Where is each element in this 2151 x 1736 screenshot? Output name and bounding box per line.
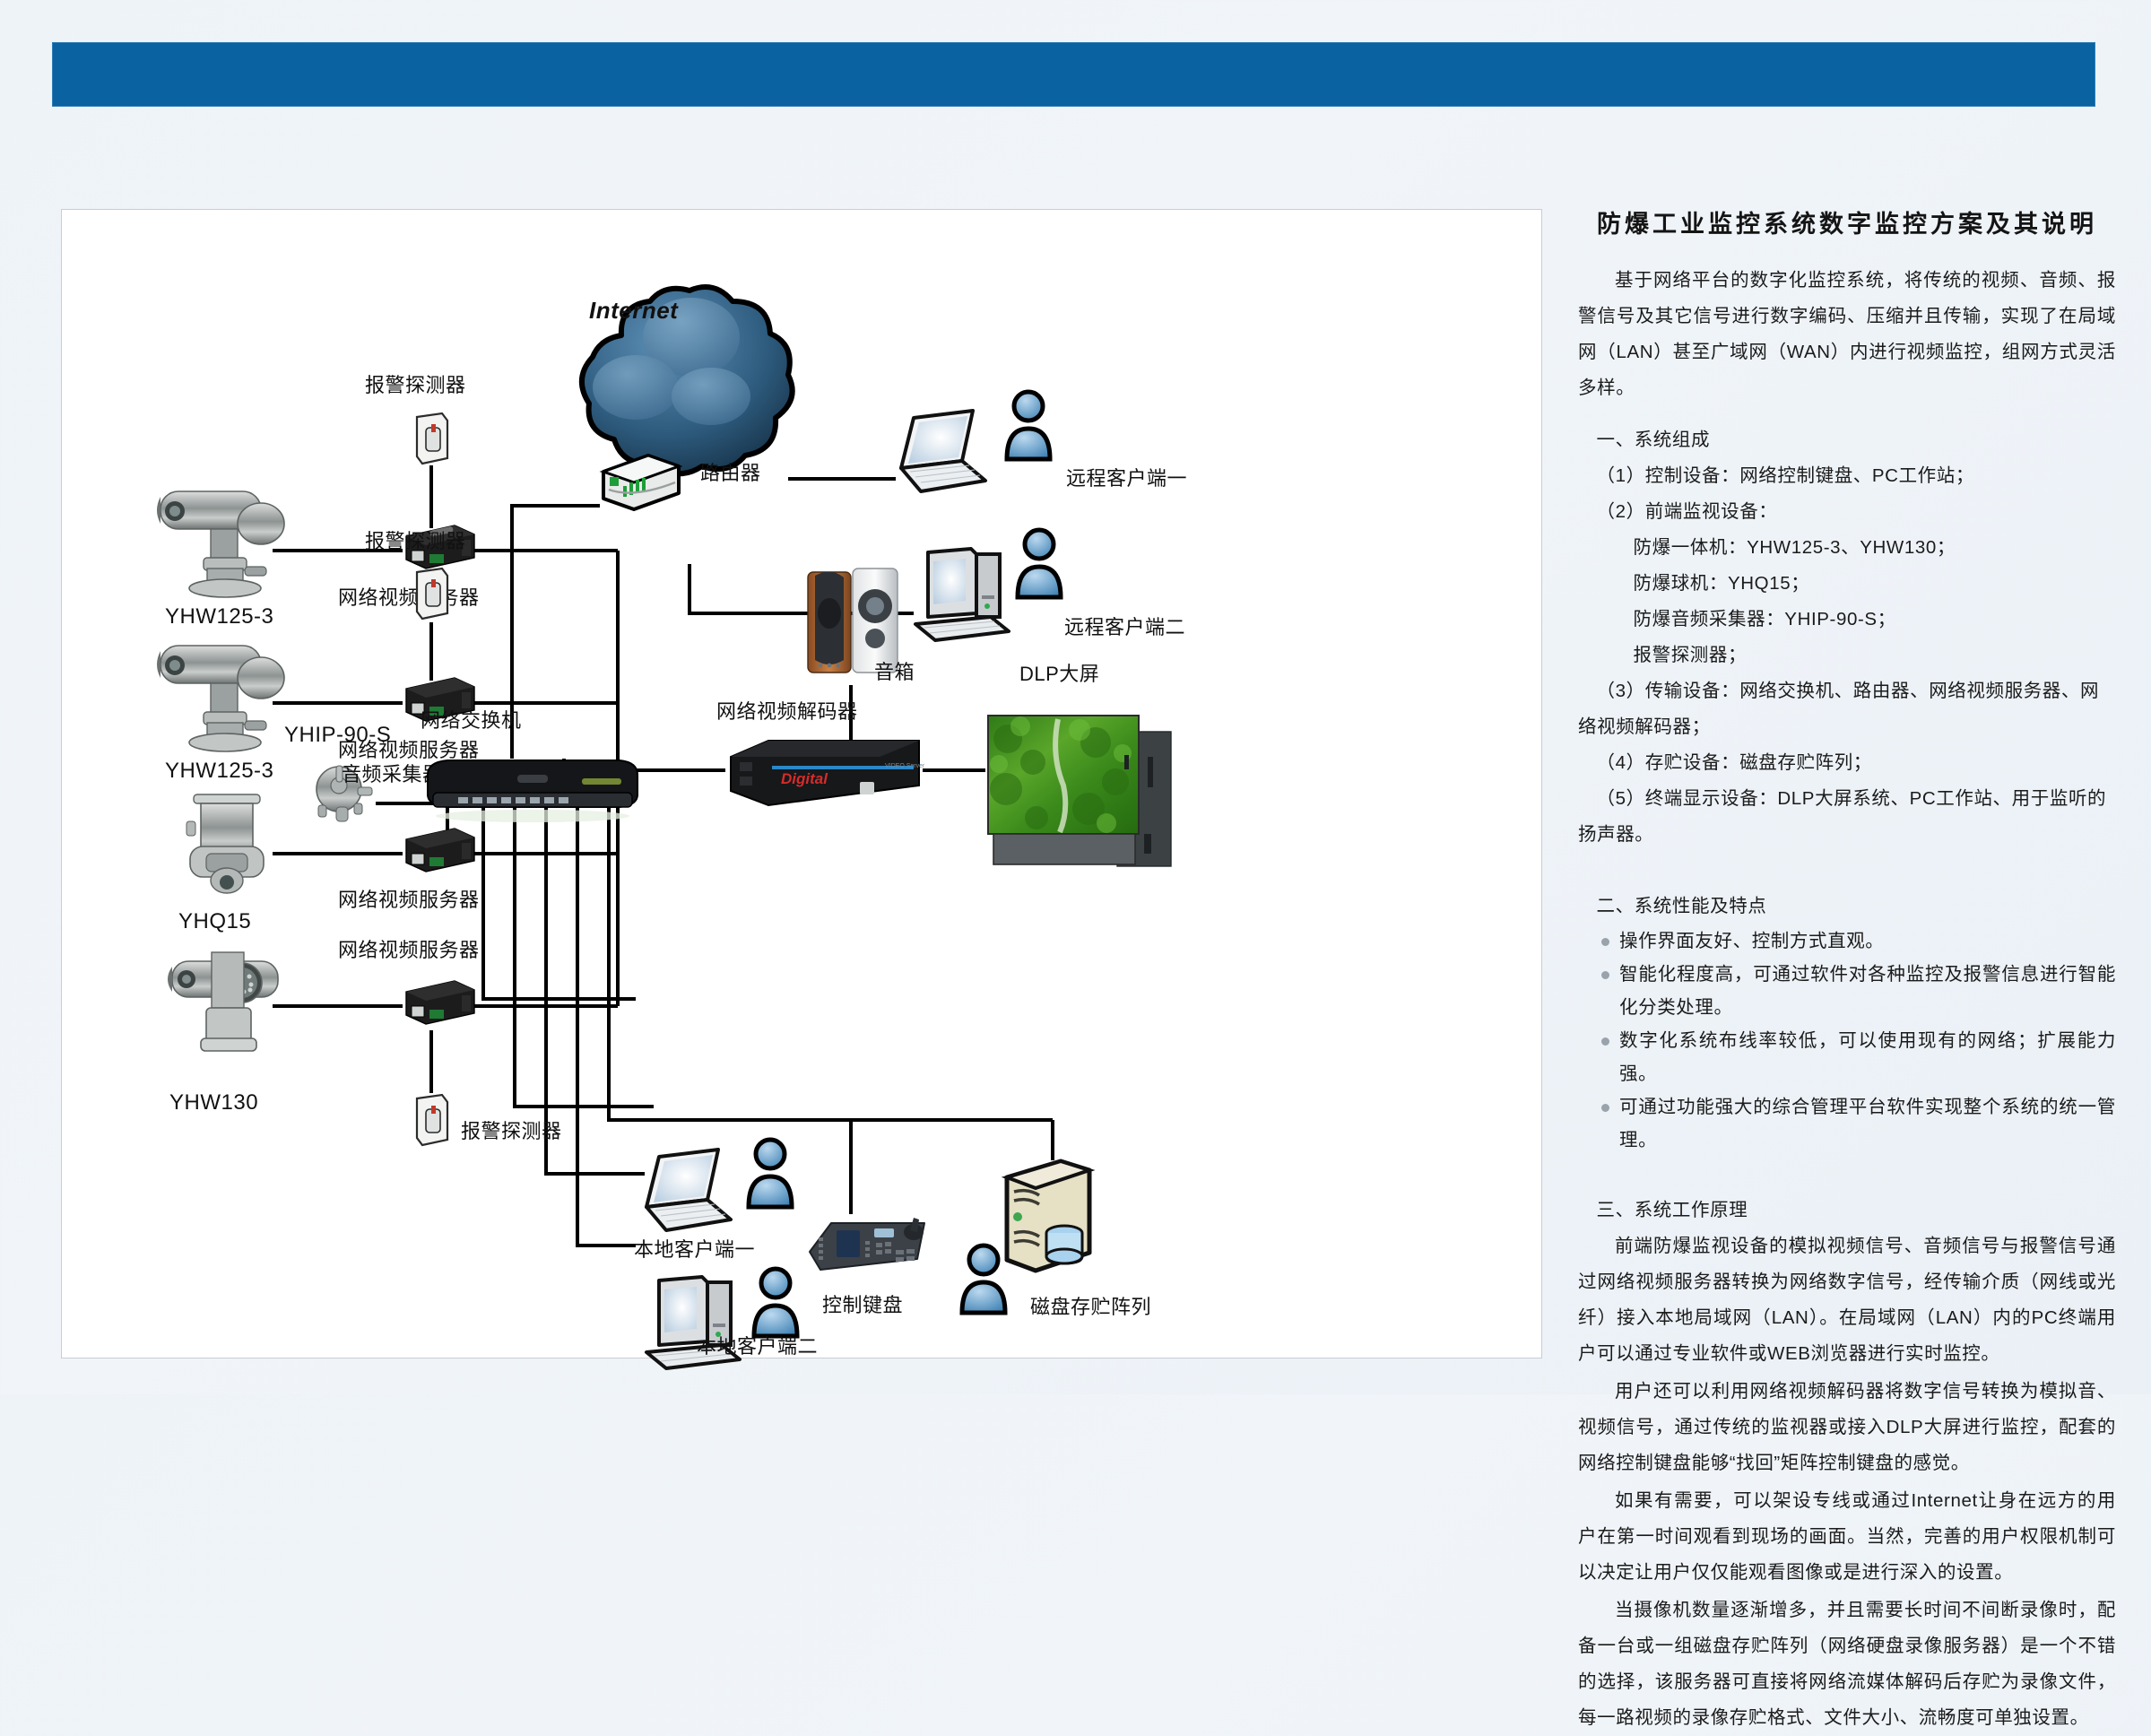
user-avatar-icon-3 (745, 1135, 795, 1215)
section-3-paragraph-2: 用户还可以利用网络视频解码器将数字信号转换为模拟音、视频信号，通过传统的监视器或… (1578, 1374, 2116, 1481)
network-video-server-icon-3 (403, 825, 478, 880)
section-1-item-2: （2）前端监视设备： (1578, 494, 2116, 530)
label-router: 路由器 (700, 457, 761, 486)
explosion-proof-dome-camera-icon (174, 784, 280, 905)
label-alarm-detector-1: 报警探测器 (365, 369, 466, 398)
section-2-bullet-2: 智能化程度高，可通过软件对各种监控及报警信息进行智能化分类处理。 (1578, 958, 2116, 1024)
svg-text:VIDEO Server: VIDEO Server (885, 763, 924, 769)
section-3-paragraph-3: 如果有需要，可以架设专线或通过Internet让身在远方的用户在第一时间观看到现… (1578, 1483, 2116, 1591)
label-decoder: 网络视频解码器 (716, 696, 858, 725)
top-banner-bar (52, 42, 2095, 107)
label-camera-4: YHW130 (169, 1090, 258, 1115)
intro-paragraph: 基于网络平台的数字化监控系统，将传统的视频、音频、报警信号及其它信号进行数字编码… (1578, 263, 2116, 406)
label-camera-2: YHW125-3 (165, 759, 273, 784)
section-1-subitem-4: 报警探测器； (1578, 638, 2116, 673)
section-3-heading: 三、系统工作原理 (1578, 1193, 2116, 1228)
alarm-detector-icon-2 (412, 567, 451, 627)
control-keyboard-icon (806, 1214, 932, 1287)
bullet-dot-icon-3 (1601, 1037, 1609, 1046)
remote-client-desktop-icon (905, 547, 1018, 659)
label-internet: Internet (589, 297, 678, 325)
bullet-dot-icon-1 (1601, 938, 1609, 946)
explosion-proof-camera-icon-3 (156, 945, 299, 1075)
label-control-keyboard: 控制键盘 (822, 1289, 903, 1318)
label-remote-client-1: 远程客户端一 (1066, 463, 1187, 491)
description-panel: 防爆工业监控系统数字监控方案及其说明 基于网络平台的数字化监控系统，将传统的视频… (1578, 204, 2116, 1370)
label-camera-1: YHW125-3 (165, 604, 273, 629)
section-spacer-2 (1578, 1157, 2116, 1176)
section-1-heading: 一、系统组成 (1578, 422, 2116, 458)
user-avatar-icon-2 (1014, 525, 1064, 605)
section-3-paragraph-1: 前端防爆监视设备的模拟视频信号、音频信号与报警信号通过网络视频服务器转换为网络数… (1578, 1228, 2116, 1372)
section-2-bullet-3-text: 数字化系统布线率较低，可以使用现有的网络；扩展能力强。 (1619, 1030, 2116, 1084)
disk-storage-array-icon (994, 1156, 1102, 1286)
label-dlp-screen: DLP大屏 (1019, 658, 1099, 687)
router-icon (598, 450, 684, 519)
remote-client-laptop-icon (887, 409, 991, 507)
label-nvs-1: 网络视频服务器 (338, 582, 480, 611)
label-remote-client-2: 远程客户端二 (1064, 612, 1185, 640)
user-avatar-icon-1 (1003, 387, 1054, 467)
network-switch-icon (421, 748, 645, 828)
label-local-client-2: 本地客户端二 (697, 1331, 818, 1359)
network-topology-diagram: 报警探测器 YHW125-3 (61, 209, 1542, 1358)
label-local-client-1: 本地客户端一 (634, 1234, 755, 1263)
section-2-bullet-2-text: 智能化程度高，可通过软件对各种监控及报警信息进行智能化分类处理。 (1619, 964, 2116, 1018)
explosion-proof-camera-icon-2 (152, 633, 295, 759)
dlp-big-screen-icon (981, 699, 1189, 883)
label-storage-array: 磁盘存贮阵列 (1030, 1291, 1151, 1320)
alarm-detector-icon-1 (412, 412, 451, 472)
section-1-subitem-1: 防爆一体机：YHW125-3、YHW130； (1578, 530, 2116, 566)
label-switch: 网络交换机 (421, 705, 522, 733)
section-2-bullet-4: 可通过功能强大的综合管理平台软件实现整个系统的统一管理。 (1578, 1090, 2116, 1157)
section-1-subitem-2: 防爆球机：YHQ15； (1578, 566, 2116, 602)
section-1-item-1: （1）控制设备：网络控制键盘、PC工作站； (1578, 458, 2116, 494)
document-title: 防爆工业监控系统数字监控方案及其说明 (1578, 204, 2116, 239)
section-2-bullet-1-text: 操作界面友好、控制方式直观。 (1619, 931, 1884, 951)
label-nvs-4: 网络视频服务器 (338, 934, 480, 963)
label-audio-collector-model: YHIP-90-S (284, 723, 391, 748)
section-1-subitem-3: 防爆音频采集器：YHIP-90-S； (1578, 602, 2116, 638)
bullet-dot-icon-2 (1601, 971, 1609, 979)
section-1-item-5: （5）终端显示设备：DLP大屏系统、PC工作站、用于监听的扬声器。 (1578, 781, 2116, 853)
label-nvs-3: 网络视频服务器 (338, 884, 480, 913)
section-spacer-1 (1578, 853, 2116, 872)
section-1-item-4: （4）存贮设备：磁盘存贮阵列； (1578, 745, 2116, 781)
label-alarm-detector-3: 报警探测器 (461, 1115, 562, 1144)
section-2-heading: 二、系统性能及特点 (1578, 889, 2116, 924)
section-2-bullet-1: 操作界面友好、控制方式直观。 (1578, 924, 2116, 958)
label-camera-3: YHQ15 (178, 909, 251, 934)
section-3-paragraph-4: 当摄像机数量逐渐增多，并且需要长时间不间断录像时，配备一台或一组磁盘存贮阵列（网… (1578, 1593, 2116, 1736)
label-alarm-detector-2: 报警探测器 (365, 525, 466, 554)
label-speaker: 音箱 (874, 656, 915, 685)
section-2-bullet-3: 数字化系统布线率较低，可以使用现有的网络；扩展能力强。 (1578, 1024, 2116, 1090)
video-decoder-icon: Digital VIDEO Server (725, 735, 924, 815)
network-video-server-icon-4 (403, 977, 478, 1032)
section-2-bullet-4-text: 可通过功能强大的综合管理平台软件实现整个系统的统一管理。 (1619, 1097, 2116, 1150)
section-1-item-3: （3）传输设备：网络交换机、路由器、网络视频服务器、网络视频解码器； (1578, 673, 2116, 745)
svg-text:Digital: Digital (781, 770, 828, 787)
bullet-dot-icon-4 (1601, 1104, 1609, 1112)
alarm-detector-icon-3 (412, 1093, 451, 1153)
explosion-proof-camera-icon-1 (152, 479, 295, 604)
local-client-laptop-icon (632, 1148, 736, 1246)
